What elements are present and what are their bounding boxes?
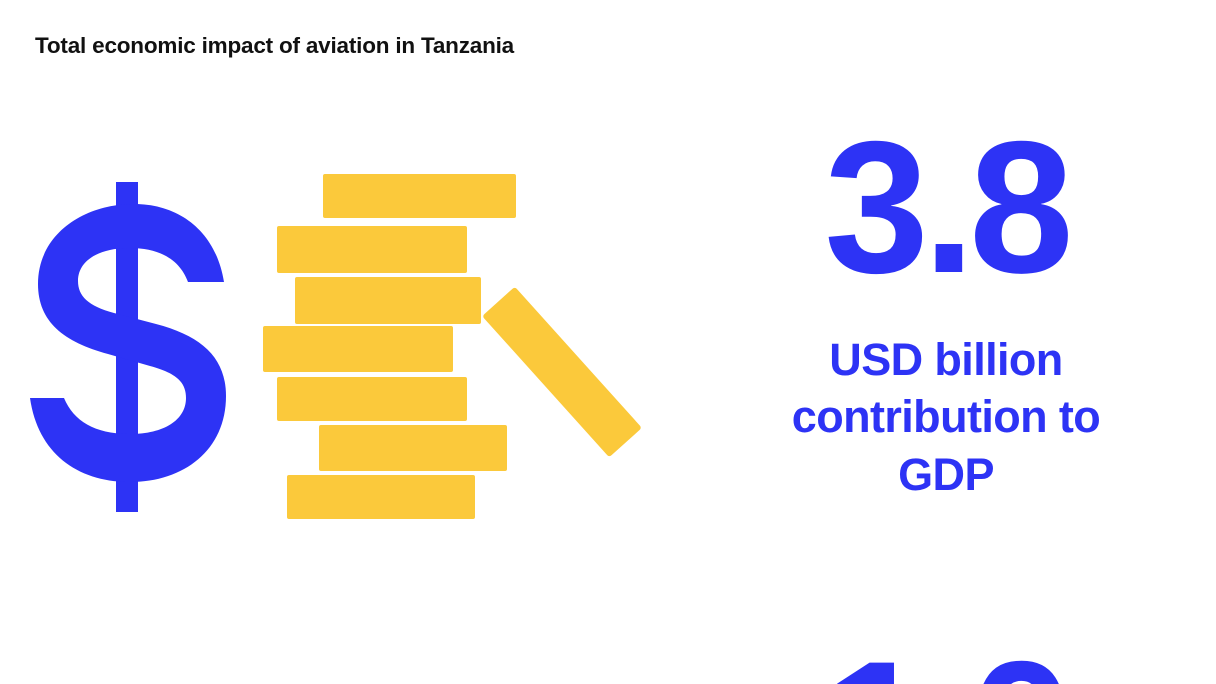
dollar-sign-icon <box>30 182 230 512</box>
coin-1 <box>323 174 516 218</box>
infographic-page: Total economic impact of aviation in Tan… <box>0 0 1216 684</box>
stat-next-value: 1.0 <box>676 638 1216 684</box>
stat-label-line-1: USD billion <box>731 331 1161 389</box>
stat-gdp-contribution: 3.8 USD billion contribution to GDP <box>676 118 1216 503</box>
stat-label-line-2: contribution to <box>731 388 1161 446</box>
coin-5 <box>277 377 467 421</box>
coin-2 <box>277 226 467 273</box>
coin-3 <box>295 277 481 324</box>
illustration-group <box>0 120 680 560</box>
stat-label: USD billion contribution to GDP <box>676 331 1216 504</box>
stat-label-line-3: GDP <box>731 446 1161 504</box>
coin-4 <box>263 326 453 372</box>
stat-next-clipped: 1.0 <box>676 638 1216 684</box>
coin-6 <box>319 425 507 471</box>
coin-7 <box>287 475 475 519</box>
page-title: Total economic impact of aviation in Tan… <box>35 33 514 59</box>
coin-stack-icon <box>255 160 655 540</box>
stat-value: 3.8 <box>676 118 1216 297</box>
